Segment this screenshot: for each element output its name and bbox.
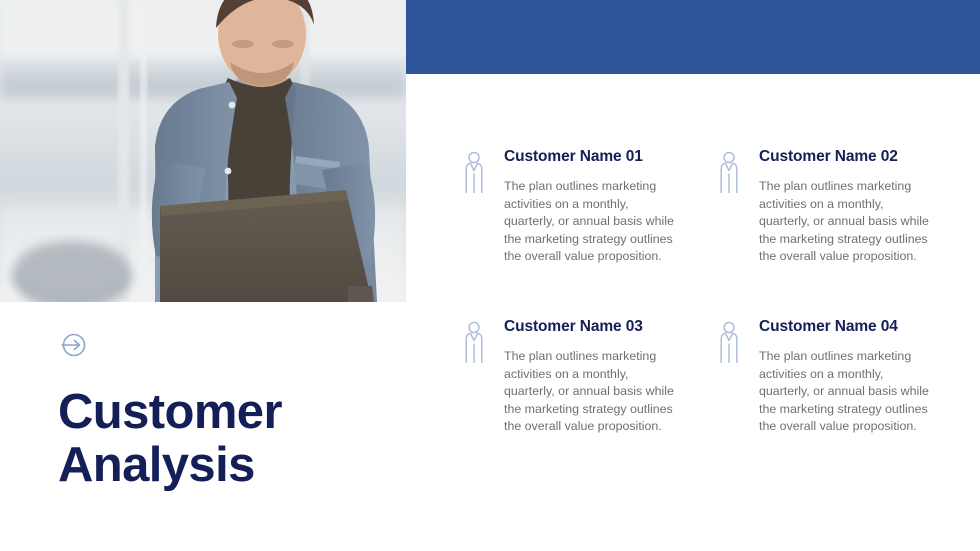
person-icon-glyph — [717, 151, 741, 195]
feature-description: The plan outlines marketing activities o… — [504, 348, 676, 436]
hero-photo — [0, 0, 406, 302]
feature-title: Customer Name 02 — [759, 148, 962, 166]
blue-header-band — [406, 0, 980, 74]
feature-description: The plan outlines marketing activities o… — [504, 178, 676, 266]
feature-title: Customer Name 03 — [504, 318, 717, 336]
feature-text: Customer Name 02 The plan outlines marke… — [759, 148, 962, 266]
feature-title: Customer Name 01 — [504, 148, 717, 166]
feature-grid: Customer Name 01 The plan outlines marke… — [462, 148, 962, 436]
person-icon — [462, 321, 486, 365]
person-icon-glyph — [462, 321, 486, 365]
arrow-right-circle-glyph — [58, 330, 88, 360]
feature-item-1[interactable]: Customer Name 01 The plan outlines marke… — [462, 148, 717, 266]
feature-text: Customer Name 03 The plan outlines marke… — [504, 318, 717, 436]
person-icon — [717, 321, 741, 365]
slide-canvas: Customer Analysis Customer Name 01 The p… — [0, 0, 980, 551]
feature-title: Customer Name 04 — [759, 318, 962, 336]
person-icon — [717, 151, 741, 195]
feature-item-3[interactable]: Customer Name 03 The plan outlines marke… — [462, 318, 717, 436]
hero-photo-artwork — [0, 0, 406, 302]
title-block: Customer Analysis — [58, 330, 388, 492]
person-icon — [462, 151, 486, 195]
person-icon-glyph — [717, 321, 741, 365]
feature-description: The plan outlines marketing activities o… — [759, 348, 931, 436]
feature-item-2[interactable]: Customer Name 02 The plan outlines marke… — [717, 148, 962, 266]
feature-text: Customer Name 04 The plan outlines marke… — [759, 318, 962, 436]
arrow-right-circle-icon[interactable] — [58, 330, 88, 360]
feature-text: Customer Name 01 The plan outlines marke… — [504, 148, 717, 266]
page-title-line-1: Customer — [58, 386, 388, 439]
feature-description: The plan outlines marketing activities o… — [759, 178, 931, 266]
page-title: Customer Analysis — [58, 386, 388, 492]
page-title-line-2: Analysis — [58, 439, 388, 492]
person-icon-glyph — [462, 151, 486, 195]
feature-item-4[interactable]: Customer Name 04 The plan outlines marke… — [717, 318, 962, 436]
